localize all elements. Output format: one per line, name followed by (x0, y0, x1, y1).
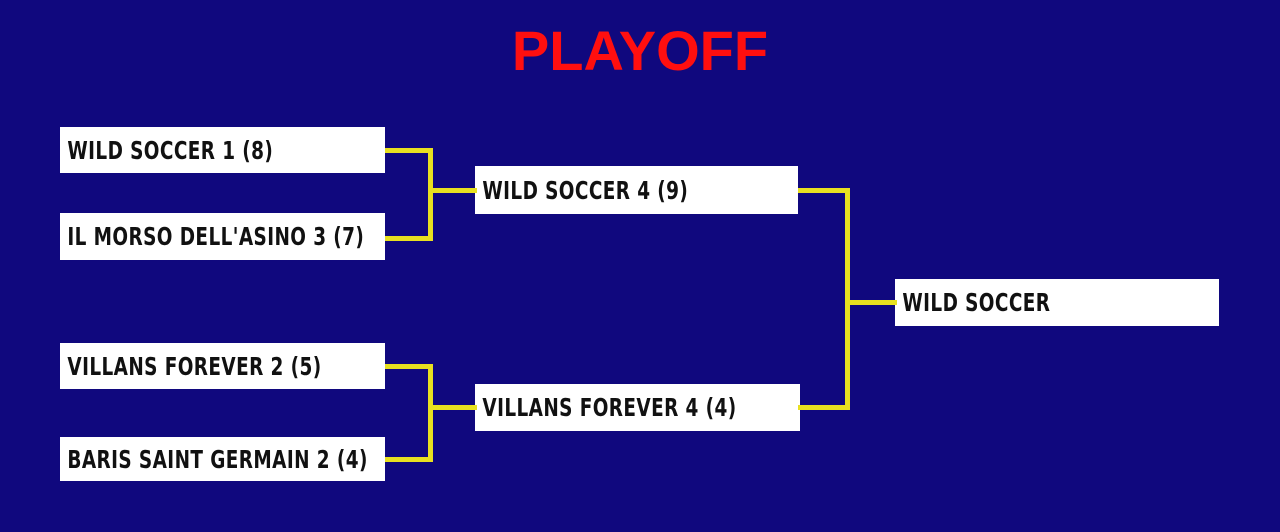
connector-line (428, 364, 433, 462)
connector-line (385, 148, 433, 153)
connector-line (385, 457, 433, 462)
bracket-slot-r1-m2-top[interactable]: VILLANS FOREVER 2 (5) (60, 343, 385, 389)
connector-line (798, 188, 850, 193)
bracket-slot-r1-m2-bottom[interactable]: BARIS SAINT GERMAIN 2 (4) (60, 437, 385, 481)
team-label: WILD SOCCER 4 (9) (475, 177, 688, 204)
bracket-slot-r1-m1-top[interactable]: WILD SOCCER 1 (8) (60, 127, 385, 173)
team-label: IL MORSO DELL'ASINO 3 (7) (60, 223, 364, 250)
bracket-slot-r2-m2[interactable]: VILLANS FOREVER 4 (4) (475, 384, 800, 431)
bracket-slot-r2-m1[interactable]: WILD SOCCER 4 (9) (475, 166, 798, 214)
playoff-bracket: PLAYOFF WILD SOCCER 1 (8) IL MORSO DELL'… (0, 0, 1280, 532)
connector-line (798, 405, 850, 410)
team-label: BARIS SAINT GERMAIN 2 (4) (60, 446, 368, 473)
team-label: WILD SOCCER 1 (8) (60, 137, 273, 164)
team-label: WILD SOCCER (895, 289, 1050, 316)
bracket-slot-champion[interactable]: WILD SOCCER (895, 279, 1219, 326)
team-label: VILLANS FOREVER 2 (5) (60, 353, 322, 380)
connector-line (845, 188, 850, 410)
connector-line (428, 148, 433, 241)
bracket-slot-r1-m1-bottom[interactable]: IL MORSO DELL'ASINO 3 (7) (60, 213, 385, 260)
connector-line (428, 405, 477, 410)
connector-line (845, 300, 897, 305)
connector-line (385, 236, 433, 241)
connector-line (385, 364, 433, 369)
page-title: PLAYOFF (0, 20, 1280, 82)
team-label: VILLANS FOREVER 4 (4) (475, 394, 737, 421)
connector-line (428, 188, 477, 193)
